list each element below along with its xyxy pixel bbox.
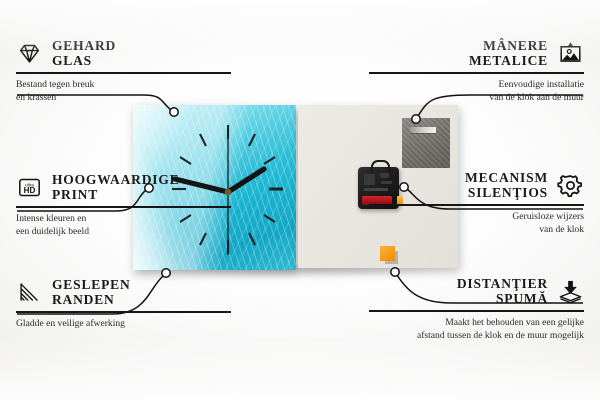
feature-divider (369, 310, 584, 311)
foam-spacer (380, 246, 395, 261)
feature-header: ultra HD HOOGWAARDIGE PRINT (16, 172, 231, 202)
hour-hand (228, 169, 264, 192)
feature-divider (16, 72, 231, 73)
feature-title: GEHARD GLAS (52, 38, 116, 68)
feature-subtitle: Eenvoudige installatie van de klok aan d… (369, 78, 584, 104)
feature-subtitle: Geruisloze wijzers van de klok (369, 210, 584, 236)
infographic-canvas: GEHARD GLAS Bestand tegen breuk en krass… (0, 0, 600, 400)
feature-geslepen-randen[interactable]: GESLEPEN RANDEN Gladde en veilige afwerk… (16, 277, 231, 330)
feature-title: MÂNERE METALICE (469, 38, 548, 68)
beveled-edge-icon (16, 279, 43, 306)
gear-icon (557, 172, 584, 199)
picture-frame-hanging-icon (557, 40, 584, 67)
feature-divider (16, 311, 231, 312)
feature-subtitle: Maakt het behouden van een gelijke afsta… (369, 316, 584, 342)
feature-header: MECANISM SILENŢIOS (369, 170, 584, 200)
feature-divider (16, 206, 231, 207)
feature-gehard-glas[interactable]: GEHARD GLAS Bestand tegen breuk en krass… (16, 38, 231, 104)
feature-title: GESLEPEN RANDEN (52, 277, 131, 307)
feature-subtitle: Bestand tegen breuk en krassen (16, 78, 231, 104)
feature-mecanism-silentios[interactable]: MECANISM SILENŢIOS Geruisloze wijzers va… (369, 170, 584, 236)
feature-title: MECANISM SILENŢIOS (465, 170, 548, 200)
diamond-icon (16, 40, 43, 67)
arrow-onto-layers-icon (557, 278, 584, 305)
feature-title: HOOGWAARDIGE PRINT (52, 172, 179, 202)
feature-title: DISTANŢIER SPUMĂ (457, 276, 548, 306)
feature-manere-metalice[interactable]: MÂNERE METALICE Eenvoudige installatie v… (369, 38, 584, 104)
ultra-hd-icon: ultra HD (16, 174, 43, 201)
metal-hanger-plate (402, 118, 450, 168)
feature-distantier-spuma[interactable]: DISTANŢIER SPUMĂ Maakt het behouden van … (369, 276, 584, 342)
feature-header: DISTANŢIER SPUMĂ (369, 276, 584, 306)
hanger-slot (410, 127, 436, 133)
feature-hoogwaardige-print[interactable]: ultra HD HOOGWAARDIGE PRINT Intense kleu… (16, 172, 231, 238)
svg-text:HD: HD (24, 186, 36, 195)
feature-header: MÂNERE METALICE (369, 38, 584, 68)
feature-subtitle: Gladde en veilige afwerking (16, 317, 231, 330)
feature-header: GESLEPEN RANDEN (16, 277, 231, 307)
feature-divider (369, 72, 584, 73)
feature-divider (369, 204, 584, 205)
feature-header: GEHARD GLAS (16, 38, 231, 68)
feature-subtitle: Intense kleuren en een duidelijk beeld (16, 212, 231, 238)
